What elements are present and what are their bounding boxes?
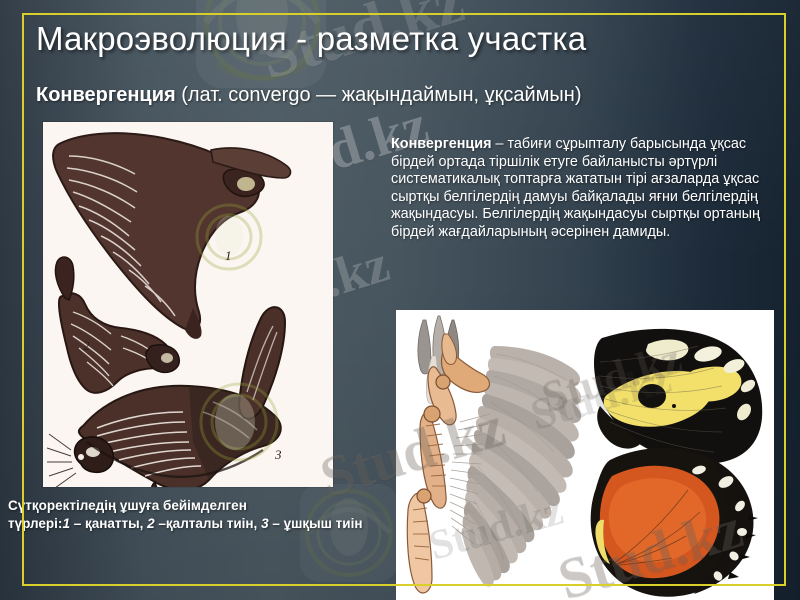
caption-item-2-text: –қалталы тиін, <box>155 516 261 531</box>
slide-canvas: Stud.kz Stud.kz Stud.kz Stud.kz Stud.kz … <box>0 0 800 600</box>
caption-line-2: түрлері: <box>8 516 62 531</box>
caption-item-3-number: 3 <box>261 516 269 531</box>
caption-item-3-text: – ұшқыш тиін <box>269 516 363 531</box>
figure-label-2: 2 <box>83 338 90 353</box>
body-paragraph: Конвергенция – табиғи сұрыпталу барысынд… <box>391 136 783 241</box>
caption-item-1-text: – қанатты, <box>70 516 147 531</box>
caption-item-1-number: 1 <box>62 516 70 531</box>
page-title: Макроэволюция - разметка участка <box>36 20 756 58</box>
figure-flying-mammals: 1 2 3 <box>43 122 333 487</box>
figure-wing-comparison: Stud.kz Stud.kz <box>396 310 774 600</box>
figure-label-3: 3 <box>274 447 282 462</box>
body-lead-term: Конвергенция <box>391 136 492 152</box>
figure-label-1: 1 <box>225 248 232 263</box>
figure-caption: Сүтқоректіледің ұшуға бейімделген түрлер… <box>8 497 378 533</box>
subtitle-etymology: (лат. convergo — жақындаймын, ұқсаймын) <box>176 84 582 106</box>
subtitle-term: Конвергенция <box>36 84 176 106</box>
caption-item-2-number: 2 <box>147 516 155 531</box>
caption-line-1: Сүтқоректіледің ұшуға бейімделген <box>8 498 247 513</box>
subtitle: Конвергенция (лат. convergo — жақындаймы… <box>36 84 776 107</box>
